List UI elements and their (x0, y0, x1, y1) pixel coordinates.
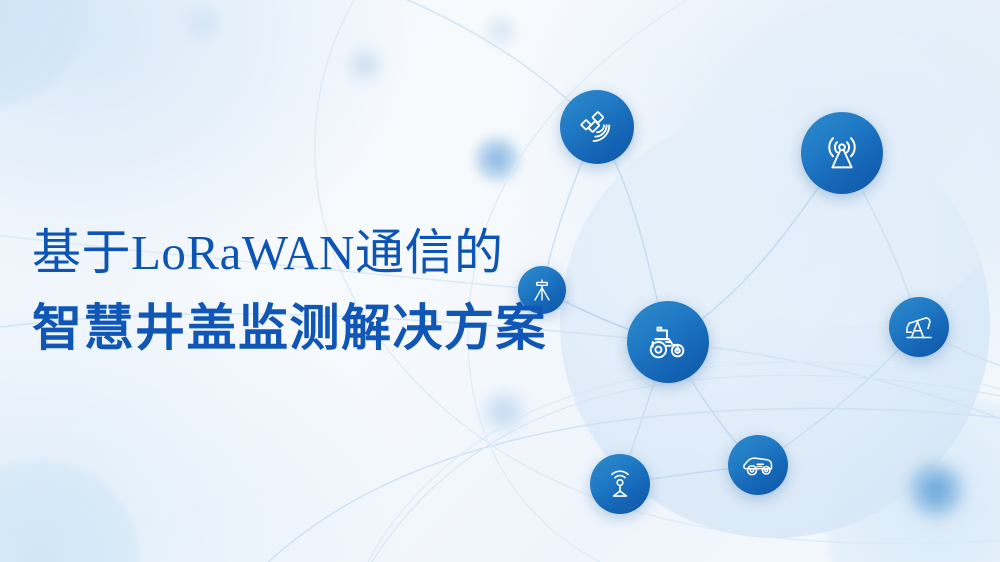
node-lawn-robot[interactable] (728, 435, 788, 495)
radio-tower-icon (819, 130, 865, 176)
title-block: 基于LoRaWAN通信的 智慧井盖监测解决方案 (32, 228, 572, 353)
page-title-line-2: 智慧井盖监测解决方案 (32, 303, 572, 353)
page-title-line-1: 基于LoRaWAN通信的 (32, 228, 572, 277)
node-oil-pumpjack[interactable] (889, 297, 949, 357)
slide-canvas: 基于LoRaWAN通信的 智慧井盖监测解决方案 (0, 0, 1000, 562)
node-satellite[interactable] (560, 90, 634, 164)
satellite-signal-icon (576, 106, 618, 148)
lawn-robot-icon (740, 447, 776, 483)
wireless-sensor-icon (603, 467, 637, 501)
node-radio-tower[interactable] (801, 112, 883, 194)
node-wireless-sensor[interactable] (590, 454, 650, 514)
node-tractor[interactable] (627, 301, 709, 383)
oil-pumpjack-icon (901, 309, 937, 345)
tractor-icon (645, 319, 691, 365)
